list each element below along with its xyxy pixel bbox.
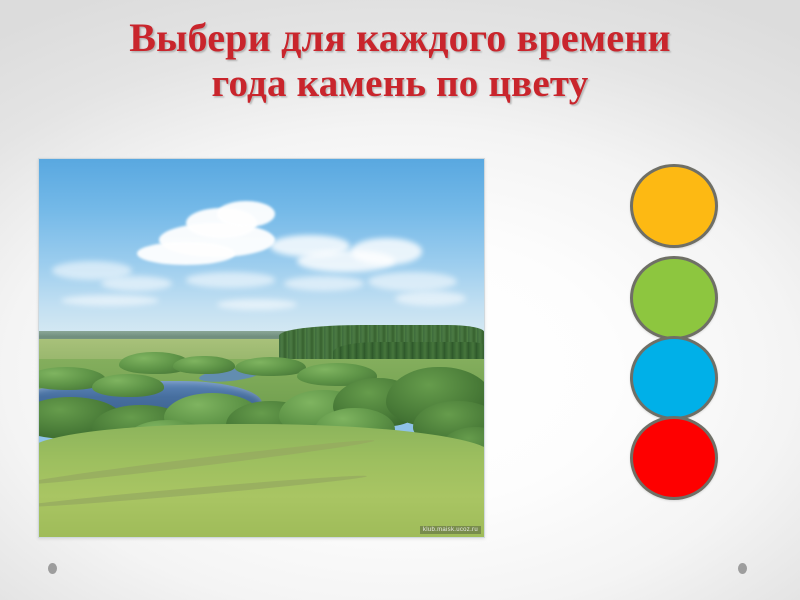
photo-watermark: klub.maisk.ucoz.ru	[420, 526, 481, 534]
cloud	[186, 272, 275, 287]
title-line-2: года камень по цвету	[40, 61, 760, 107]
decorative-dot-right	[738, 563, 747, 574]
orange-stone[interactable]	[630, 164, 718, 248]
photo-illustration: klub.maisk.ucoz.ru	[39, 159, 484, 537]
blue-stone[interactable]	[630, 336, 718, 420]
cloud	[351, 238, 422, 264]
decorative-dot-left	[48, 563, 57, 574]
bush	[92, 374, 163, 397]
cloud	[137, 242, 235, 265]
bush	[235, 357, 306, 376]
title-line-1: Выбери для каждого времени	[40, 14, 760, 61]
green-stone[interactable]	[630, 256, 718, 340]
landscape-photo: klub.maisk.ucoz.ru	[38, 158, 485, 538]
cloud	[217, 201, 275, 227]
foreground-meadow	[38, 424, 485, 538]
bush	[173, 356, 235, 375]
slide-canvas: Выбери для каждого времени года камень п…	[0, 0, 800, 600]
red-stone[interactable]	[630, 416, 718, 500]
page-title: Выбери для каждого времени года камень п…	[40, 14, 760, 107]
